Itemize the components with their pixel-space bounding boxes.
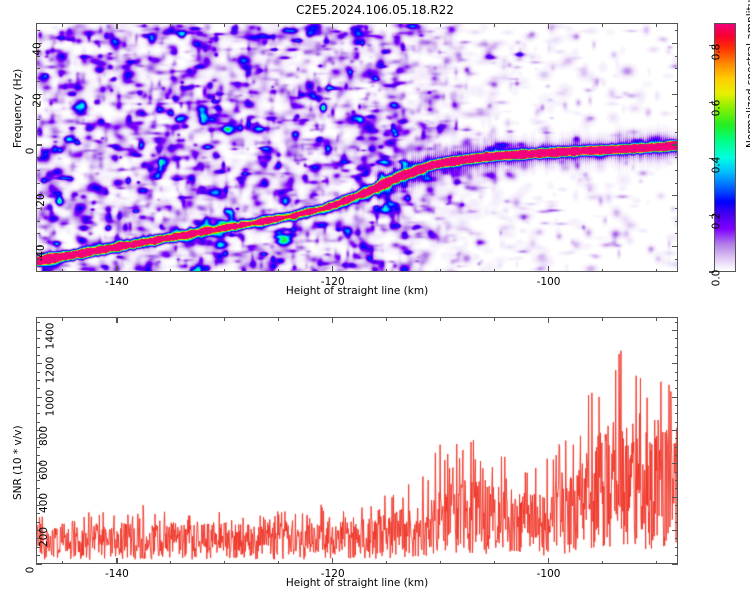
snr-ytick-minor-right bbox=[675, 555, 679, 556]
snr-xtick-top bbox=[116, 317, 117, 323]
snr-xtick-minor-top bbox=[278, 317, 279, 321]
spectrogram-ytick-minor-right bbox=[675, 56, 679, 57]
spectrogram-xtick-top bbox=[116, 23, 117, 29]
spectrogram-xticklabel: -140 bbox=[105, 276, 129, 288]
snr-ytick-minor-right bbox=[675, 505, 679, 506]
spectrogram-xtick-minor-top bbox=[494, 23, 495, 27]
snr-ytick bbox=[36, 563, 42, 564]
spectrogram-ytick-minor bbox=[36, 119, 40, 120]
snr-xticklabel: -100 bbox=[537, 568, 561, 580]
spectrogram-ytick-minor bbox=[36, 132, 40, 133]
snr-yticklabel: 400 bbox=[38, 493, 50, 513]
spectrogram-yticklabel: 20 bbox=[31, 93, 43, 106]
snr-ytick-minor bbox=[36, 522, 40, 523]
snr-xtick-minor-top bbox=[440, 317, 441, 321]
spectrogram-ytick-minor-right bbox=[675, 157, 679, 158]
snr-xtick-minor bbox=[170, 561, 171, 565]
snr-ytick-minor-right bbox=[675, 338, 679, 339]
spectrogram-ytick-minor bbox=[36, 56, 40, 57]
snr-ytick-minor-right bbox=[675, 455, 679, 456]
spectrogram-xtick-minor bbox=[170, 269, 171, 273]
spectrogram-ylabel: Frequency (Hz) bbox=[12, 69, 24, 148]
snr-axes bbox=[36, 317, 678, 564]
spectrogram-xtick bbox=[332, 266, 333, 272]
snr-ytick-right bbox=[672, 463, 678, 464]
spectrogram-ytick-minor-right bbox=[675, 68, 679, 69]
snr-ytick-minor bbox=[36, 372, 40, 373]
spectrogram-xtick-minor-top bbox=[602, 23, 603, 27]
spectrogram-xlabel: Height of straight line (km) bbox=[286, 285, 428, 297]
snr-ytick-right bbox=[672, 530, 678, 531]
spectrogram-ytick bbox=[36, 144, 42, 145]
snr-yticklabel: 1400 bbox=[45, 323, 57, 350]
snr-ytick-minor bbox=[36, 555, 40, 556]
spectrogram-xtick-minor-top bbox=[224, 23, 225, 27]
colorbar-ticklabel: 0.4 bbox=[711, 156, 723, 173]
snr-ytick-minor bbox=[36, 347, 40, 348]
spectrogram-xtick-minor bbox=[386, 269, 387, 273]
figure-root: C2E5.2024.106.05.18.R22 -140-120-1004020… bbox=[0, 0, 750, 600]
figure-title: C2E5.2024.106.05.18.R22 bbox=[0, 3, 750, 17]
spectrogram-ytick-minor-right bbox=[675, 208, 679, 209]
snr-ytick-minor-right bbox=[675, 388, 679, 389]
snr-xtick-minor-top bbox=[494, 317, 495, 321]
snr-ytick-right bbox=[672, 563, 678, 564]
spectrogram-ytick-minor-right bbox=[675, 119, 679, 120]
snr-ytick bbox=[36, 330, 42, 331]
snr-yticklabel: 200 bbox=[38, 527, 50, 547]
spectrogram-ytick-minor bbox=[36, 208, 40, 209]
snr-ytick-minor-right bbox=[675, 447, 679, 448]
spectrogram-yticklabel: 40 bbox=[31, 43, 43, 56]
spectrogram-ytick-minor bbox=[36, 30, 40, 31]
spectrogram-axes bbox=[36, 23, 678, 272]
snr-ytick bbox=[36, 397, 42, 398]
spectrogram-xtick-top bbox=[548, 23, 549, 29]
snr-ytick-minor bbox=[36, 488, 40, 489]
colorbar-label: Normalized spectral amplitude bbox=[745, 0, 750, 148]
spectrogram-ytick-minor-right bbox=[675, 106, 679, 107]
snr-xticklabel: -140 bbox=[105, 568, 129, 580]
spectrogram-xticklabel: -100 bbox=[537, 276, 561, 288]
spectrogram-ytick-minor bbox=[36, 157, 40, 158]
snr-line-plot bbox=[37, 318, 678, 564]
spectrogram-ytick-right bbox=[672, 246, 678, 247]
spectrogram-xtick-minor-top bbox=[656, 23, 657, 27]
spectrogram-ytick-minor bbox=[36, 259, 40, 260]
snr-xtick-minor bbox=[440, 561, 441, 565]
snr-ytick-minor bbox=[36, 438, 40, 439]
snr-ytick-minor bbox=[36, 472, 40, 473]
snr-ytick-minor bbox=[36, 547, 40, 548]
snr-xtick-minor bbox=[602, 561, 603, 565]
spectrogram-ytick-minor-right bbox=[675, 259, 679, 260]
snr-ytick-right bbox=[672, 497, 678, 498]
spectrogram-xtick-minor bbox=[440, 269, 441, 273]
spectrogram-ytick-minor bbox=[36, 81, 40, 82]
spectrogram-xtick-minor bbox=[224, 269, 225, 273]
spectrogram-ytick-minor bbox=[36, 170, 40, 171]
snr-ytick-minor bbox=[36, 380, 40, 381]
spectrogram-xtick-minor bbox=[494, 269, 495, 273]
snr-ytick-minor bbox=[36, 447, 40, 448]
snr-xtick-minor-top bbox=[602, 317, 603, 321]
spectrogram-xtick-top bbox=[332, 23, 333, 29]
spectrogram-ytick-minor-right bbox=[675, 183, 679, 184]
spectrogram-xtick-minor bbox=[278, 269, 279, 273]
spectrogram-xtick-minor-top bbox=[440, 23, 441, 27]
snr-ytick-right bbox=[672, 397, 678, 398]
snr-ytick-minor bbox=[36, 422, 40, 423]
snr-xtick-minor bbox=[62, 561, 63, 565]
snr-ytick-minor bbox=[36, 480, 40, 481]
spectrogram-xtick-minor bbox=[62, 269, 63, 273]
snr-ytick-minor bbox=[36, 505, 40, 506]
spectrogram-image bbox=[37, 24, 678, 272]
spectrogram-xtick-minor bbox=[602, 269, 603, 273]
snr-xtick-minor-top bbox=[386, 317, 387, 321]
spectrogram-ytick-minor-right bbox=[675, 170, 679, 171]
snr-ytick-minor bbox=[36, 538, 40, 539]
colorbar-ticklabel: 0.6 bbox=[711, 100, 723, 117]
snr-ytick-minor bbox=[36, 338, 40, 339]
spectrogram-ytick-minor-right bbox=[675, 81, 679, 82]
snr-yticklabel: 600 bbox=[38, 460, 50, 480]
snr-ytick-minor-right bbox=[675, 472, 679, 473]
snr-ytick-minor-right bbox=[675, 422, 679, 423]
snr-ytick-minor-right bbox=[675, 538, 679, 539]
snr-xtick-minor bbox=[224, 561, 225, 565]
spectrogram-yticklabel: 0 bbox=[25, 148, 37, 155]
spectrogram-xtick bbox=[548, 266, 549, 272]
snr-xtick-minor bbox=[656, 561, 657, 565]
snr-ytick-minor-right bbox=[675, 347, 679, 348]
snr-yticklabel: 800 bbox=[38, 426, 50, 446]
spectrogram-ytick-minor-right bbox=[675, 132, 679, 133]
spectrogram-ytick-right bbox=[672, 144, 678, 145]
snr-xtick-minor bbox=[386, 561, 387, 565]
snr-ytick-minor bbox=[36, 413, 40, 414]
snr-ytick-minor-right bbox=[675, 480, 679, 481]
snr-xtick-minor-top bbox=[62, 317, 63, 321]
snr-ytick-minor-right bbox=[675, 372, 679, 373]
snr-ytick-minor-right bbox=[675, 513, 679, 514]
snr-ytick-minor bbox=[36, 405, 40, 406]
snr-xtick-minor-top bbox=[656, 317, 657, 321]
spectrogram-ytick-minor-right bbox=[675, 221, 679, 222]
snr-ytick-minor-right bbox=[675, 322, 679, 323]
snr-yticklabel: 0 bbox=[25, 567, 37, 574]
snr-ytick-minor-right bbox=[675, 547, 679, 548]
snr-xtick-top bbox=[548, 317, 549, 323]
snr-xtick-minor-top bbox=[224, 317, 225, 321]
snr-ytick-minor-right bbox=[675, 488, 679, 489]
snr-ytick-minor bbox=[36, 355, 40, 356]
spectrogram-ytick-minor bbox=[36, 183, 40, 184]
snr-xtick-top bbox=[332, 317, 333, 323]
snr-ytick-minor-right bbox=[675, 413, 679, 414]
snr-ytick-minor-right bbox=[675, 380, 679, 381]
spectrogram-ytick-right bbox=[672, 43, 678, 44]
spectrogram-ytick-minor-right bbox=[675, 233, 679, 234]
colorbar-ticklabel: 0.2 bbox=[711, 213, 723, 230]
snr-ytick-minor bbox=[36, 513, 40, 514]
snr-ytick-minor-right bbox=[675, 522, 679, 523]
snr-ytick-minor bbox=[36, 455, 40, 456]
snr-yticklabel: 1200 bbox=[45, 356, 57, 383]
snr-yticklabel: 1000 bbox=[45, 390, 57, 417]
colorbar-ticklabel: 0.0 bbox=[711, 270, 723, 287]
snr-xlabel: Height of straight line (km) bbox=[286, 577, 428, 589]
snr-ytick-right bbox=[672, 430, 678, 431]
snr-xtick bbox=[332, 558, 333, 564]
snr-ytick-minor-right bbox=[675, 405, 679, 406]
spectrogram-ytick-minor bbox=[36, 106, 40, 107]
snr-ytick-minor bbox=[36, 322, 40, 323]
spectrogram-xtick-minor-top bbox=[386, 23, 387, 27]
colorbar-ticklabel: 0.8 bbox=[711, 43, 723, 60]
spectrogram-xtick-minor-top bbox=[62, 23, 63, 27]
snr-ytick bbox=[36, 363, 42, 364]
snr-ytick-minor bbox=[36, 388, 40, 389]
snr-xtick-minor bbox=[278, 561, 279, 565]
spectrogram-ytick-right bbox=[672, 195, 678, 196]
snr-xtick-minor bbox=[494, 561, 495, 565]
spectrogram-ytick-right bbox=[672, 94, 678, 95]
snr-ytick-right bbox=[672, 330, 678, 331]
spectrogram-xtick-minor-top bbox=[278, 23, 279, 27]
snr-ytick-right bbox=[672, 363, 678, 364]
spectrogram-ytick-minor bbox=[36, 68, 40, 69]
spectrogram-ytick-minor bbox=[36, 221, 40, 222]
spectrogram-xtick-minor bbox=[656, 269, 657, 273]
snr-ytick-minor-right bbox=[675, 355, 679, 356]
spectrogram-xtick bbox=[116, 266, 117, 272]
snr-ylabel: SNR (10 * v/v) bbox=[12, 425, 24, 500]
spectrogram-xtick-minor-top bbox=[170, 23, 171, 27]
snr-xtick bbox=[548, 558, 549, 564]
snr-xtick bbox=[116, 558, 117, 564]
spectrogram-ytick-minor bbox=[36, 233, 40, 234]
snr-xtick-minor-top bbox=[170, 317, 171, 321]
spectrogram-ytick-minor-right bbox=[675, 30, 679, 31]
snr-ytick-minor-right bbox=[675, 438, 679, 439]
